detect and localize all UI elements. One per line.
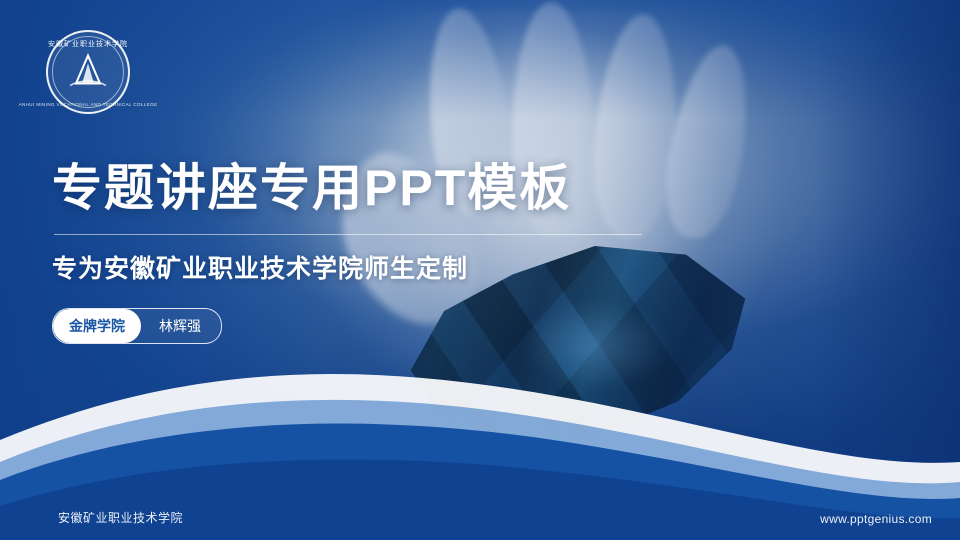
logo-english-text: ANHUI MINING VOCATIONAL AND TECHNICAL CO… — [19, 102, 158, 107]
footer-institution: 安徽矿业职业技术学院 — [58, 509, 183, 526]
footer-website[interactable]: www.pptgenius.com — [820, 512, 932, 526]
logo-emblem-icon — [66, 51, 110, 96]
presenter-name: 林辉强 — [141, 309, 221, 343]
presentation-slide: 安徽矿业职业技术学院 ANHUI MINING VOCATIONAL AND T… — [0, 0, 960, 540]
title-divider — [54, 234, 642, 235]
college-logo: 安徽矿业职业技术学院 ANHUI MINING VOCATIONAL AND T… — [46, 30, 130, 114]
sub-title: 专为安徽矿业职业技术学院师生定制 — [52, 249, 692, 285]
main-title: 专题讲座专用PPT模板 — [52, 160, 692, 218]
title-block: 专题讲座专用PPT模板 专为安徽矿业职业技术学院师生定制 — [52, 160, 692, 285]
presenter-tag: 金牌学院 — [53, 309, 141, 343]
logo-chinese-text: 安徽矿业职业技术学院 — [48, 39, 128, 49]
presenter-badge: 金牌学院 林辉强 — [52, 308, 222, 344]
